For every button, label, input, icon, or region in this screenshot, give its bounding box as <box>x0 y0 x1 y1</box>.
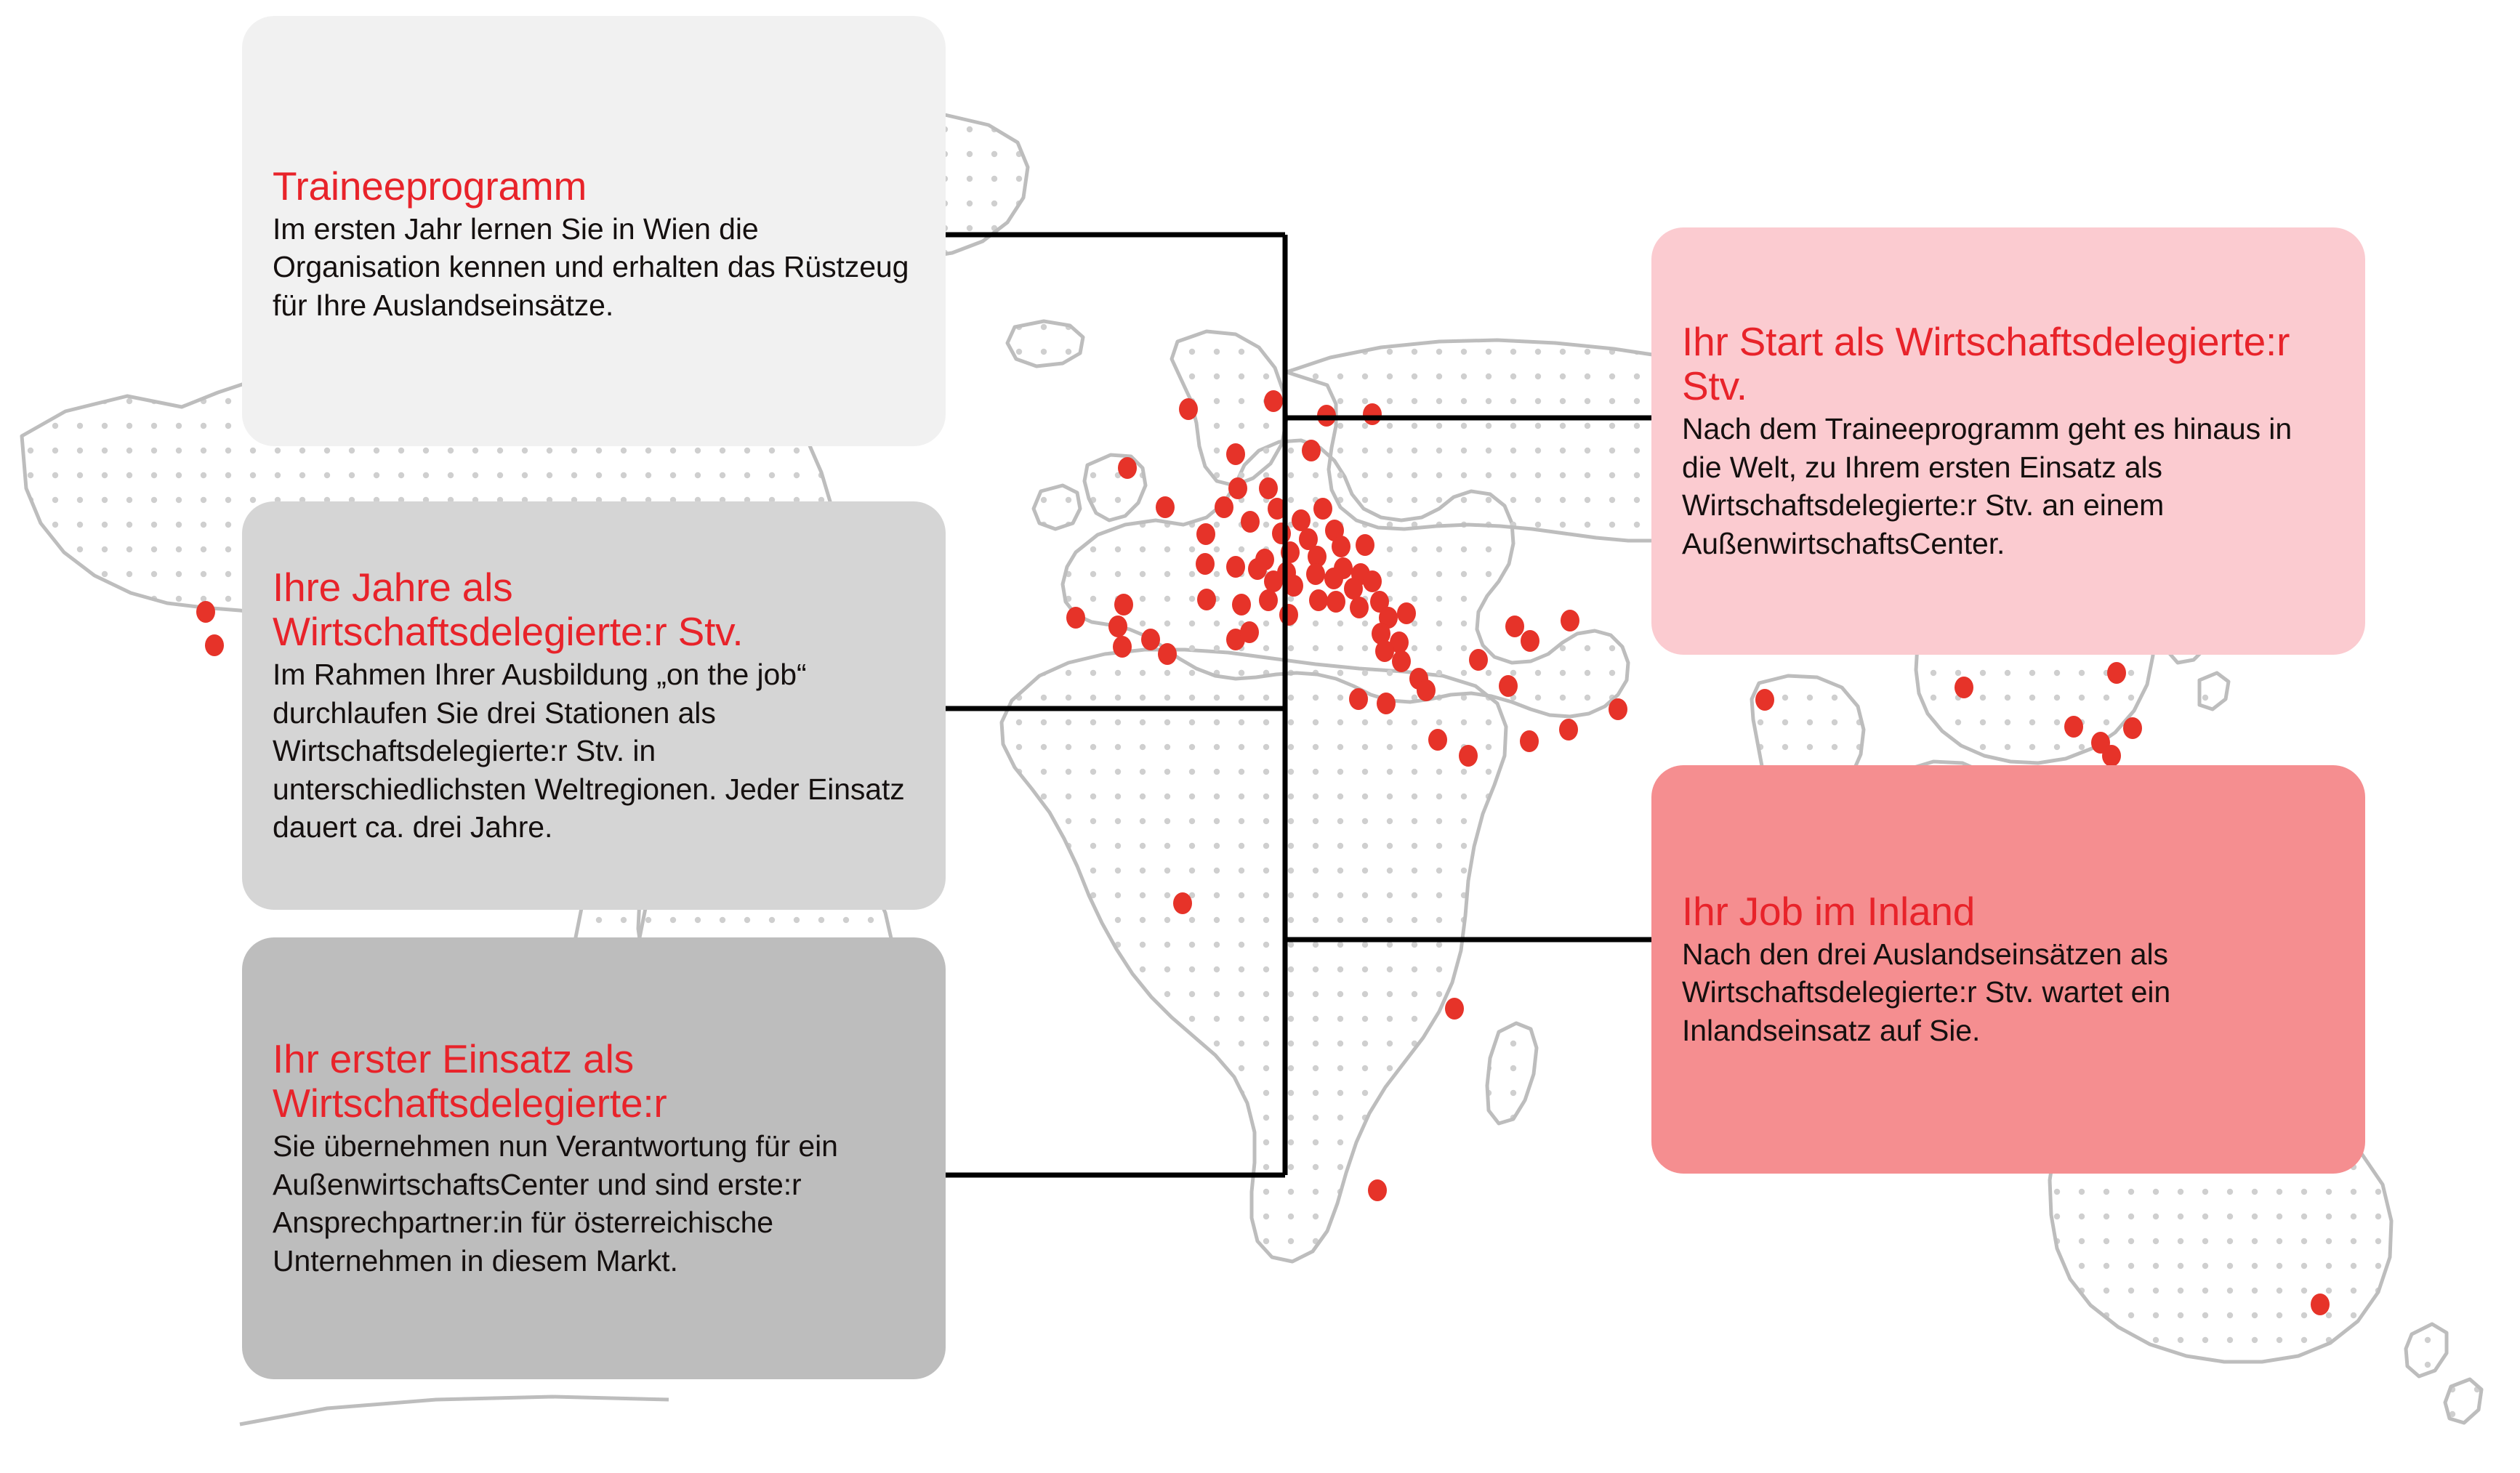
map-marker <box>1559 719 1578 740</box>
map-marker <box>1392 650 1411 672</box>
card-ihre-jahre-als-wirtschaftsdelegierte[interactable]: Ihre Jahre als Wirtschaftsdelegierte:r S… <box>242 501 946 910</box>
map-marker <box>1313 498 1332 520</box>
map-marker <box>1114 594 1133 616</box>
map-marker <box>1196 553 1215 575</box>
map-marker <box>1066 607 1085 629</box>
map-marker <box>1332 536 1350 557</box>
map-marker <box>1259 589 1278 611</box>
map-marker <box>1284 575 1303 597</box>
map-marker <box>1428 729 1447 751</box>
card-body-ihre-jahre: Im Rahmen Ihrer Ausbildung „on the job“ … <box>273 655 915 846</box>
card-title-ihr-erster-einsatz: Ihr erster Einsatz als Wirtschaftsdelegi… <box>273 1037 915 1126</box>
map-marker <box>1609 698 1627 720</box>
map-marker <box>1955 677 1973 698</box>
map-marker <box>1445 998 1464 1020</box>
card-body-ihr-job-im-inland: Nach den drei Auslandseinsätzen als Wirt… <box>1682 935 2335 1049</box>
map-marker <box>2107 662 2126 684</box>
map-marker <box>1499 675 1518 697</box>
map-marker <box>1156 496 1175 518</box>
card-body-ihr-start: Nach dem Traineeprogramm geht es hinaus … <box>1682 410 2335 562</box>
card-body-ihr-erster-einsatz: Sie übernehmen nun Verantwortung für ein… <box>273 1127 915 1280</box>
map-marker <box>1248 558 1267 580</box>
map-marker <box>1281 541 1300 563</box>
map-marker <box>1179 398 1198 420</box>
map-marker <box>1268 498 1287 520</box>
card-traineeprogramm[interactable]: Traineeprogramm Im ersten Jahr lernen Si… <box>242 16 946 446</box>
map-marker <box>1113 636 1132 658</box>
map-marker <box>1417 679 1436 701</box>
map-marker <box>1505 616 1524 637</box>
map-marker <box>1306 563 1325 585</box>
map-marker <box>1272 522 1291 544</box>
card-ihr-start-als-wirtschaftsdelegierte[interactable]: Ihr Start als Wirtschaftsdelegierte:r St… <box>1651 227 2365 655</box>
map-marker <box>1228 477 1247 499</box>
map-marker <box>1363 403 1382 425</box>
map-marker <box>1215 496 1233 518</box>
card-title-traineeprogramm: Traineeprogramm <box>273 164 915 209</box>
card-ihr-job-im-inland[interactable]: Ihr Job im Inland Nach den drei Auslands… <box>1651 765 2365 1174</box>
map-marker <box>1309 589 1328 611</box>
map-marker <box>1377 693 1396 714</box>
map-marker <box>1317 405 1336 427</box>
map-marker <box>1226 443 1245 465</box>
card-title-ihr-job-im-inland: Ihr Job im Inland <box>1682 889 2335 934</box>
map-marker <box>1173 892 1192 914</box>
map-marker <box>1141 629 1160 650</box>
map-marker <box>1292 509 1311 531</box>
map-marker <box>2064 716 2083 738</box>
map-marker <box>1459 745 1478 767</box>
map-marker <box>1196 523 1215 545</box>
map-marker <box>1118 457 1137 479</box>
map-marker <box>1469 649 1488 671</box>
card-body-traineeprogramm: Im ersten Jahr lernen Sie in Wien die Or… <box>273 210 915 324</box>
map-marker <box>1241 511 1260 533</box>
map-marker <box>1375 640 1394 662</box>
map-marker <box>1520 730 1539 752</box>
map-marker <box>1108 616 1127 637</box>
map-marker <box>205 634 224 656</box>
map-marker <box>1324 568 1343 589</box>
map-marker <box>2311 1294 2330 1315</box>
map-marker <box>1264 390 1283 412</box>
map-marker <box>1344 578 1363 600</box>
map-marker <box>1279 604 1298 626</box>
map-marker <box>1356 534 1374 556</box>
map-marker <box>1264 570 1283 592</box>
map-marker <box>1755 689 1774 711</box>
map-marker <box>1327 591 1345 613</box>
map-marker <box>1302 440 1321 461</box>
map-marker <box>1232 594 1251 616</box>
infographic-canvas: .land{fill:url(#landdots);stroke:#bdbdbd… <box>0 0 2520 1473</box>
map-marker <box>1349 688 1368 710</box>
map-marker <box>1363 570 1382 592</box>
card-title-ihr-start: Ihr Start als Wirtschaftsdelegierte:r St… <box>1682 320 2335 409</box>
map-marker <box>1226 556 1245 578</box>
card-title-ihre-jahre: Ihre Jahre als Wirtschaftsdelegierte:r S… <box>273 565 915 655</box>
map-marker <box>1240 621 1259 643</box>
map-marker <box>2102 745 2121 767</box>
map-marker <box>1368 1179 1387 1201</box>
map-marker <box>1521 630 1539 652</box>
map-marker <box>2123 717 2142 739</box>
map-marker <box>1197 589 1216 610</box>
card-ihr-erster-einsatz[interactable]: Ihr erster Einsatz als Wirtschaftsdelegi… <box>242 937 946 1379</box>
map-marker <box>1259 477 1278 499</box>
map-marker <box>196 601 215 623</box>
map-marker <box>1350 597 1369 618</box>
map-marker <box>1158 643 1177 665</box>
map-marker <box>1397 602 1416 624</box>
map-marker <box>1561 610 1579 631</box>
